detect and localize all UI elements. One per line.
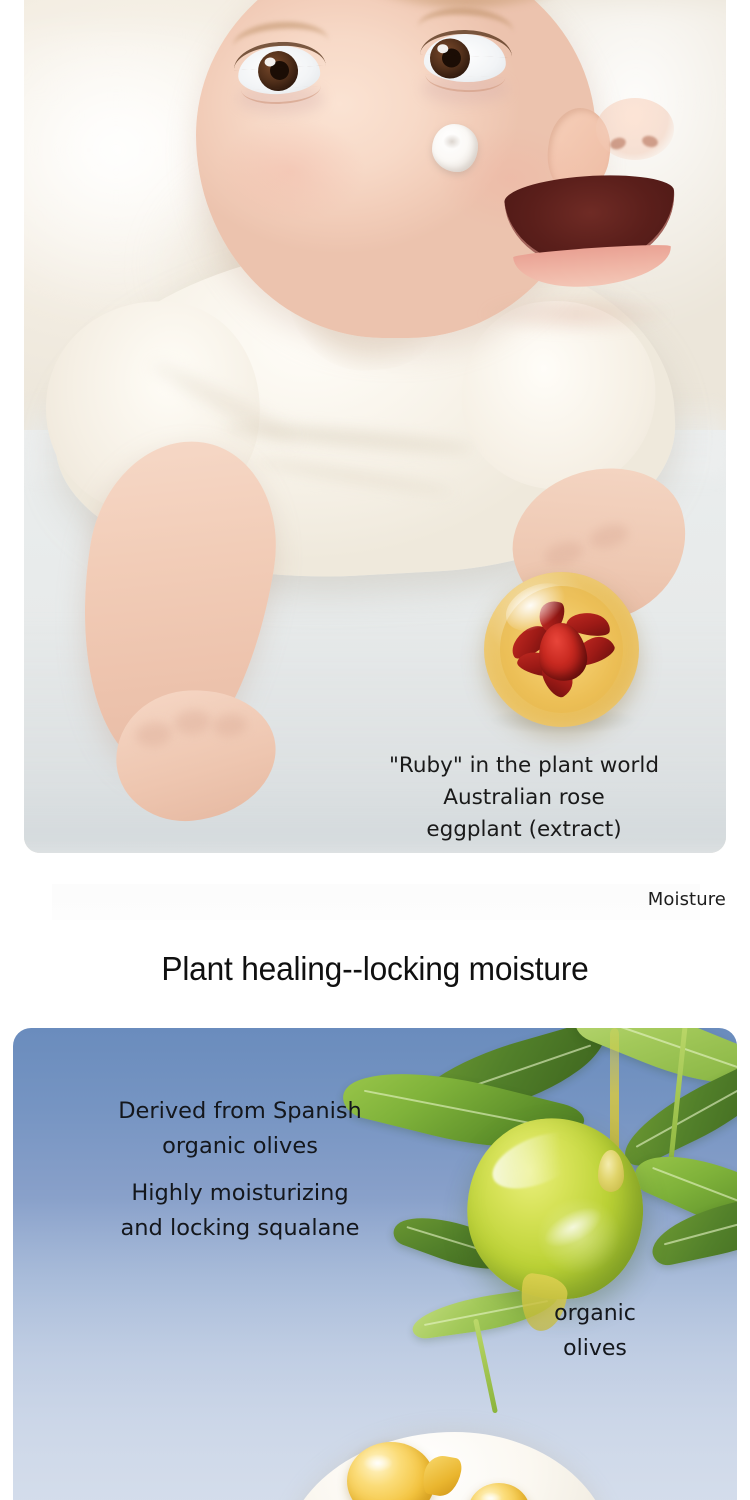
olive-text-b-line-2: and locking squalane [62,1211,418,1246]
baby-eye-right [423,33,507,84]
baby-eye-left [237,44,321,96]
olive-text-block-b: Highly moisturizing and locking squalane [62,1176,418,1246]
nostril [641,134,659,149]
olive-label-line-1: organic [500,1296,690,1331]
caption-line-2: Australian rose [354,782,694,814]
olive-highlight [485,1121,591,1200]
olive-text-block-a: Derived from Spanish organic olives [70,1094,410,1164]
cheek-left [216,118,366,223]
knuckle [212,713,248,738]
capsule-highlight [480,1492,502,1500]
caption-line-1: "Ruby" in the plant world [354,750,694,782]
capsule-highlight [363,1454,393,1472]
caption-line-3: eggplant (extract) [354,814,694,846]
olive-callout-label: organic olives [500,1296,690,1366]
olive-text-b-line-1: Highly moisturizing [62,1176,418,1211]
chin-shadow [481,293,671,335]
baby-nose [596,98,674,160]
divider-band [52,884,700,920]
olive-text-a-line-2: organic olives [70,1129,410,1164]
ingredient-caption: "Ruby" in the plant world Australian ros… [354,750,694,846]
product-detail-page: "Ruby" in the plant world Australian ros… [0,0,750,1500]
eyebrow-right [417,6,514,33]
baby-hero-image: "Ruby" in the plant world Australian ros… [24,0,726,853]
eyelash [420,28,513,57]
moisture-label: Moisture [648,889,726,910]
knuckle [173,708,211,736]
roselle-extract-sphere-icon [484,572,639,727]
knuckle [134,721,172,749]
olive-text-a-line-1: Derived from Spanish [70,1094,410,1129]
section-headline: Plant healing--locking moisture [15,950,735,988]
olive-label-line-2: olives [500,1331,690,1366]
nostril [609,136,628,151]
olive-highlight [538,1199,609,1256]
knuckle [587,520,632,552]
cream-dab-icon [432,124,478,172]
knuckle [542,537,587,569]
